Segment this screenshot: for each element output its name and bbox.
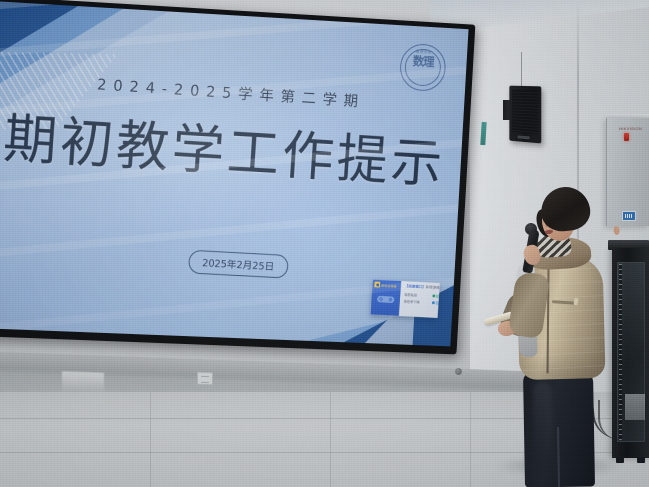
cabinet-label-icon: [622, 211, 636, 221]
toast-app-name: 游戏加速器: [381, 282, 397, 288]
presenter: [500, 185, 620, 487]
speaker-wire: [521, 52, 522, 88]
toast-close-icon[interactable]: — □ ✕: [431, 284, 440, 290]
presenter-ear: [613, 226, 620, 236]
presentation-slide: 数理学院 数理 2024-2025学年第二学期 期初教学工作提示 2025年2月…: [0, 1, 469, 346]
slide-title: 期初教学工作提示: [2, 110, 447, 193]
institution-seal-icon: 数理学院 数理: [399, 43, 447, 92]
presenter-hair: [539, 185, 592, 233]
toast-row-label: 当前延迟: [404, 291, 417, 297]
toast-icon-panel: 游戏加速器: [370, 279, 401, 316]
toast-row: 当前延迟 已优化: [404, 291, 440, 298]
presenter-pants: [523, 370, 595, 487]
speaker-grille: [512, 90, 538, 134]
notification-toast[interactable]: 游戏加速器 — □ ✕ 【加速端口】新增游戏分..: [370, 279, 440, 318]
toast-app-header: 游戏加速器: [374, 281, 397, 288]
cabinet-status-led: [624, 133, 629, 141]
toast-body: — □ ✕ 【加速端口】新增游戏分... 当前延迟 已优化 丢包率下降: [399, 281, 440, 318]
power-outlet: [197, 372, 213, 386]
slide-date-badge: 2025年2月25日: [188, 250, 289, 279]
toast-app-badge-icon: [374, 281, 380, 287]
wall-speaker-icon: [509, 86, 541, 144]
cabinet-brand-text: HIKVISION: [619, 126, 642, 131]
rack-equipment: [625, 394, 645, 420]
toast-title-tag: 【加速端口】: [405, 284, 426, 289]
status-dot-blue-icon: [432, 301, 435, 304]
toast-row-value: 已优化: [432, 293, 440, 299]
photo-scene: HIKVISION 数理学院 数理: [0, 0, 649, 487]
toast-row-label: 丢包率下降: [403, 299, 419, 305]
toast-row: 丢包率下降 已降低: [403, 299, 439, 306]
game-controller-icon: [376, 293, 396, 305]
display-screen[interactable]: 数理学院 数理 2024-2025学年第二学期 期初教学工作提示 2025年2月…: [0, 0, 475, 354]
speaker-badge: [518, 135, 530, 139]
status-dot-green-icon: [432, 294, 435, 297]
wall-screw: [455, 368, 462, 375]
